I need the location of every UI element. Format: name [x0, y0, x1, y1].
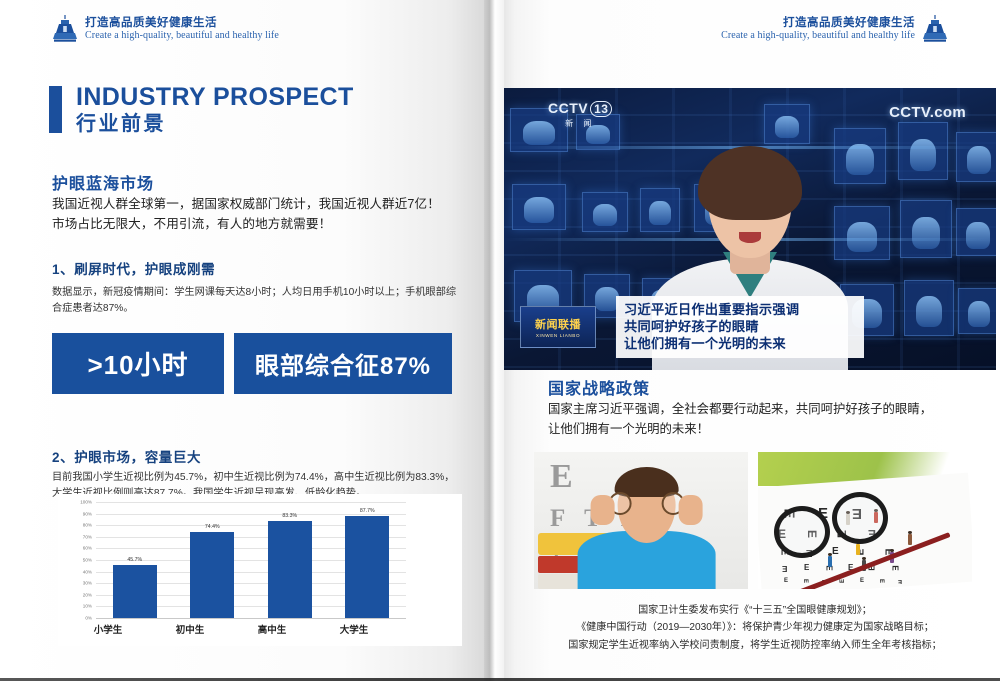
title-chinese: 行业前景	[76, 112, 354, 137]
stat-boxes: >10小时 眼部综合征87%	[52, 333, 452, 394]
chart-bar-group: 83.3%	[268, 502, 312, 618]
policy-body: 国家主席习近平强调，全社会都要行动起来，共同呵护好孩子的眼睛， 让他们拥有一个光…	[548, 400, 968, 440]
brochure-spread: 打造高品质美好健康生活 Create a high-quality, beaut…	[0, 0, 1000, 681]
tumbling-e-letter: E	[891, 565, 899, 570]
section1-body: 数据显示，新冠疫情期间：学生网课每天达8小时；人均日用手机10小时以上；手机眼部…	[52, 285, 462, 318]
blue-sea-body-line2: 市场占比无限大，不用引流，有人的地方就需要！	[52, 215, 462, 235]
xwlb-title-en: XINWEN LIANBO	[536, 333, 580, 338]
studio-monitor	[958, 288, 996, 334]
tumbling-e-letter: E	[878, 579, 884, 583]
chart-x-tick-label: 大学生	[324, 622, 384, 636]
chart-y-tick-label: 40%	[83, 569, 92, 574]
chart-y-tick-label: 90%	[83, 511, 92, 516]
page-title: INDUSTRY PROSPECT 行业前景	[49, 84, 354, 137]
chart-bar	[345, 516, 389, 618]
chart-bar-group: 87.7%	[345, 502, 389, 618]
cctv-channel-number: 13	[590, 101, 612, 117]
boy-figure	[577, 469, 717, 589]
blue-sea-heading: 护眼蓝海市场	[52, 170, 154, 194]
subtitle-line-1: 习近平近日作出重要指示强调	[624, 301, 856, 318]
chart-y-tick-label: 0%	[85, 616, 92, 621]
chart-x-tick-label: 小学生	[78, 622, 138, 636]
news-subtitle-overlay: 习近平近日作出重要指示强调 共同呵护好孩子的眼睛 让他们拥有一个光明的未来	[616, 296, 864, 358]
chart-bars: 45.7%74.4%83.3%87.7%	[96, 502, 406, 618]
chart-y-tick-label: 20%	[83, 592, 92, 597]
anchor-hair	[698, 146, 802, 220]
studio-monitor	[900, 200, 952, 258]
xwlb-title-cn: 新闻联播	[535, 316, 581, 332]
chart-bar	[113, 565, 157, 618]
policy-heading: 国家战略政策	[548, 375, 650, 399]
chart-bar	[190, 532, 234, 618]
chart-y-tick-label: 80%	[83, 523, 92, 528]
photo-boy-with-glasses: E F T P T E P F	[534, 452, 748, 589]
tumbling-e-letter: E	[832, 547, 839, 557]
chart-y-tick-label: 50%	[83, 558, 92, 563]
studio-monitor	[956, 132, 996, 182]
running-head-right: 打造高品质美好健康生活 Create a high-quality, beaut…	[721, 14, 948, 44]
chart-bar-value-label: 74.4%	[205, 524, 220, 530]
policy-list-item: 国家卫计生委发布实行《“十三五”全国眼健康规划》；	[520, 602, 990, 619]
anchor-mouth	[739, 232, 761, 243]
slogan-en: Create a high-quality, beautiful and hea…	[85, 30, 279, 42]
policy-photos: E F T P T E P F EEEEEEEEEEEE	[534, 452, 972, 589]
blue-sea-body-line1: 我国近视人群全球第一，据国家权威部门统计，我国近视人群近7亿！	[52, 195, 462, 215]
factory-building-logo-icon	[922, 14, 948, 44]
title-accent-bar	[49, 86, 62, 133]
cctv-channel-sub: 新 闻	[548, 118, 612, 129]
chart-y-tick-label: 70%	[83, 534, 92, 539]
studio-monitor	[582, 192, 628, 232]
subtitle-line-2: 共同呵护好孩子的眼睛	[624, 318, 856, 335]
studio-monitor	[956, 208, 996, 256]
tumbling-e-letter: E	[860, 578, 864, 584]
chart-plot-area: 100%90%80%70%60%50%40%30%20%10%0% 45.7%7…	[96, 502, 406, 618]
running-head-left: 打造高品质美好健康生活 Create a high-quality, beaut…	[52, 14, 279, 44]
cctv-com-watermark: CCTV.com	[889, 104, 966, 121]
photo-glasses-on-eye-chart: EEEEEEEEEEEEEEEEEEEEEEEEE	[758, 452, 972, 589]
myopia-rate-bar-chart: 100%90%80%70%60%50%40%30%20%10%0% 45.7%7…	[58, 494, 462, 646]
chart-bar-value-label: 87.7%	[360, 508, 375, 514]
chart-gridline: 0%	[96, 618, 406, 619]
subtitle-line-3: 让他们拥有一个光明的未来	[624, 335, 856, 352]
tumbling-e-letter: E	[840, 579, 846, 583]
chart-bar-group: 45.7%	[113, 502, 157, 618]
cctv-channel-logo: CCTV13 新 闻	[548, 100, 612, 129]
policy-list-item: 国家规定学生近视率纳入学校问责制度，将学生近视防控率纳入师生全年考核指标；	[520, 637, 990, 654]
boy-hand	[591, 495, 615, 525]
eyeglass-lens-left	[774, 506, 830, 558]
miniature-figure	[908, 534, 912, 545]
chart-bar-group: 74.4%	[190, 502, 234, 618]
policy-list-item: 《健康中国行动（2019—2030年）》：将保护青少年视力健康定为国家战略目标；	[520, 619, 990, 636]
eyeglass-lens-right	[832, 492, 888, 544]
section2-heading: 2、护眼市场，容量巨大	[52, 446, 201, 466]
tumbling-e-letter: E	[782, 564, 787, 572]
studio-monitor	[904, 280, 954, 336]
tumbling-e-letter: E	[784, 578, 788, 584]
tumbling-e-letter: E	[898, 578, 902, 584]
chart-bar-value-label: 83.3%	[282, 513, 297, 519]
chart-x-tick-label: 初中生	[160, 622, 220, 636]
blue-sea-body: 我国近视人群全球第一，据国家权威部门统计，我国近视人群近7亿！ 市场占比无限大，…	[52, 195, 462, 234]
chart-bar-value-label: 45.7%	[127, 557, 142, 563]
chart-y-tick-label: 60%	[83, 546, 92, 551]
chart-bar	[268, 521, 312, 618]
slogan-cn: 打造高品质美好健康生活	[721, 17, 915, 30]
slogan-cn: 打造高品质美好健康生活	[85, 17, 279, 30]
miniature-figure	[856, 544, 860, 555]
book-gutter	[484, 0, 504, 681]
slogan-en: Create a high-quality, beautiful and hea…	[721, 30, 915, 42]
policy-body-line1: 国家主席习近平强调，全社会都要行动起来，共同呵护好孩子的眼睛，	[548, 400, 968, 420]
chart-y-tick-label: 100%	[80, 500, 92, 505]
policy-document-list: 国家卫计生委发布实行《“十三五”全国眼健康规划》；《健康中国行动（2019—20…	[520, 602, 990, 654]
title-english: INDUSTRY PROSPECT	[76, 84, 354, 111]
studio-monitor	[898, 122, 948, 180]
chart-y-tick-label: 30%	[83, 581, 92, 586]
studio-monitor	[764, 104, 810, 144]
studio-monitor	[512, 184, 566, 230]
chart-x-tick-label: 高中生	[242, 622, 302, 636]
cctv-wordmark: CCTV	[548, 100, 588, 116]
miniature-figure	[828, 556, 832, 567]
chart-y-tick-label: 10%	[83, 604, 92, 609]
stat-box-hours: >10小时	[52, 333, 224, 394]
xinwen-lianbo-badge: 新闻联播 XINWEN LIANBO	[520, 306, 596, 348]
boy-hand	[679, 495, 703, 525]
cctv-news-photo: CCTV13 新 闻 CCTV.com 新闻联播 XINWEN LIANBO 习…	[504, 88, 996, 370]
factory-building-logo-icon	[52, 14, 78, 44]
tumbling-e-letter: E	[802, 579, 808, 583]
stat-box-syndrome: 眼部综合征87%	[234, 333, 452, 394]
policy-body-line2: 让他们拥有一个光明的未来！	[548, 420, 968, 440]
section1-heading: 1、刷屏时代，护眼成刚需	[52, 258, 215, 278]
tumbling-e-letter: E	[804, 564, 809, 572]
